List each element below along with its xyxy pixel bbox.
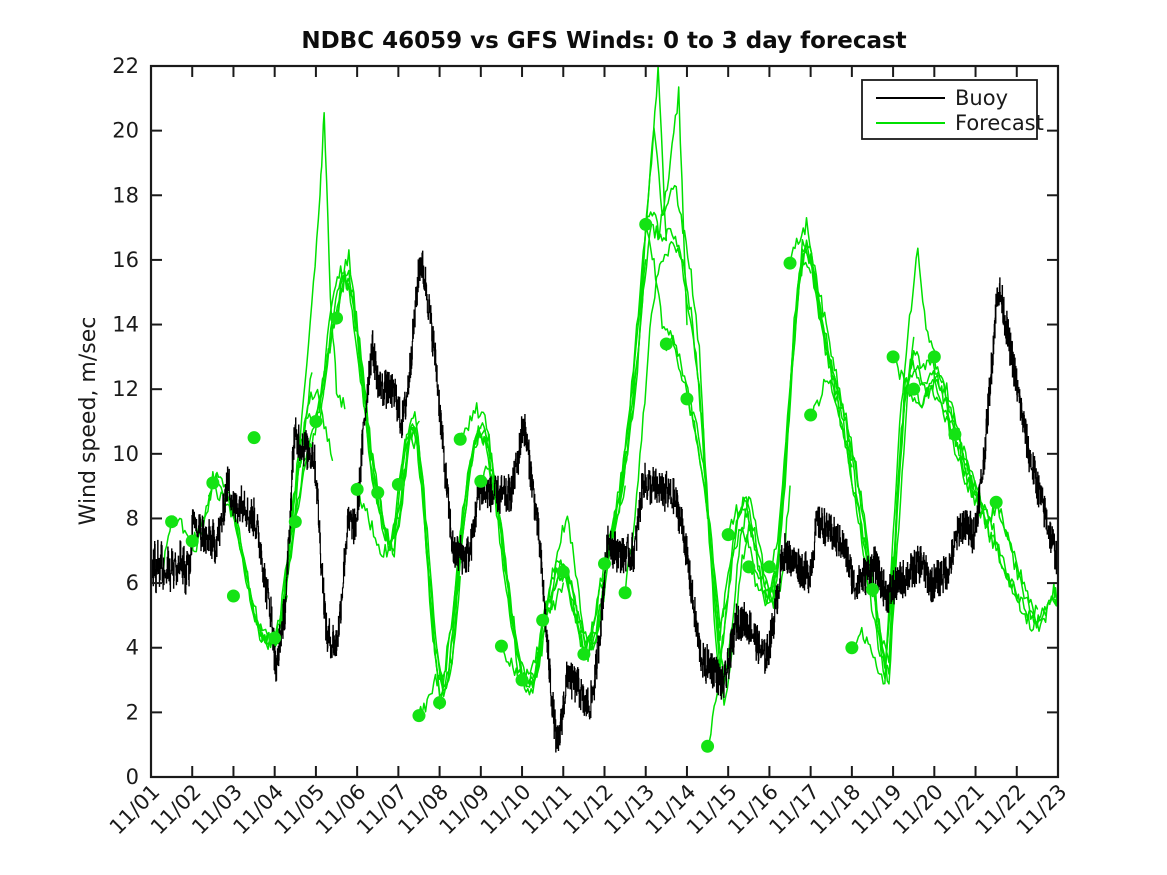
forecast-init-marker <box>907 383 920 396</box>
forecast-init-marker <box>639 218 652 231</box>
forecast-init-marker <box>701 740 714 753</box>
forecast-init-marker <box>660 337 673 350</box>
forecast-init-marker <box>289 515 302 528</box>
wind-speed-chart: NDBC 46059 vs GFS Winds: 0 to 3 day fore… <box>0 0 1167 875</box>
y-tick-label: 20 <box>112 119 139 143</box>
forecast-init-marker <box>990 496 1003 509</box>
forecast-init-marker <box>742 560 755 573</box>
chart-legend[interactable]: Buoy Forecast <box>862 80 1044 139</box>
chart-title: NDBC 46059 vs GFS Winds: 0 to 3 day fore… <box>301 28 906 54</box>
y-tick-label: 22 <box>112 54 139 78</box>
forecast-init-marker <box>680 392 693 405</box>
forecast-init-marker <box>763 560 776 573</box>
forecast-init-marker <box>866 583 879 596</box>
forecast-init-marker <box>845 641 858 654</box>
forecast-init-marker <box>412 709 425 722</box>
forecast-init-marker <box>186 535 199 548</box>
y-tick-label: 4 <box>126 636 139 660</box>
y-tick-label: 12 <box>112 377 139 401</box>
forecast-init-marker <box>206 476 219 489</box>
forecast-init-marker <box>474 475 487 488</box>
forecast-init-marker <box>392 478 405 491</box>
forecast-init-marker <box>557 565 570 578</box>
y-tick-label: 0 <box>126 765 139 789</box>
forecast-init-marker <box>516 674 529 687</box>
forecast-init-marker <box>351 483 364 496</box>
forecast-init-marker <box>887 350 900 363</box>
forecast-init-marker <box>948 428 961 441</box>
forecast-init-marker <box>227 590 240 603</box>
legend-label-buoy: Buoy <box>955 86 1008 110</box>
forecast-init-marker <box>928 350 941 363</box>
forecast-init-marker <box>165 515 178 528</box>
y-tick-label: 14 <box>112 313 139 337</box>
y-tick-label: 6 <box>126 571 139 595</box>
figure-container: NDBC 46059 vs GFS Winds: 0 to 3 day fore… <box>0 0 1167 875</box>
forecast-init-marker <box>495 640 508 653</box>
y-tick-label: 2 <box>126 700 139 724</box>
forecast-init-marker <box>309 415 322 428</box>
y-axis-label: Wind speed, m/sec <box>76 317 101 526</box>
forecast-init-marker <box>577 648 590 661</box>
forecast-init-marker <box>619 586 632 599</box>
forecast-init-marker <box>784 257 797 270</box>
forecast-init-marker <box>722 528 735 541</box>
y-tick-label: 18 <box>112 183 139 207</box>
forecast-init-marker <box>248 431 261 444</box>
forecast-init-marker <box>330 312 343 325</box>
forecast-init-marker <box>371 486 384 499</box>
forecast-init-marker <box>536 614 549 627</box>
y-tick-label: 10 <box>112 442 139 466</box>
forecast-init-marker <box>598 557 611 570</box>
forecast-init-marker <box>454 433 467 446</box>
forecast-init-marker <box>804 409 817 422</box>
y-tick-label: 8 <box>126 506 139 530</box>
forecast-init-marker <box>268 632 281 645</box>
legend-label-forecast: Forecast <box>955 111 1044 135</box>
forecast-init-marker <box>433 696 446 709</box>
y-tick-label: 16 <box>112 248 139 272</box>
